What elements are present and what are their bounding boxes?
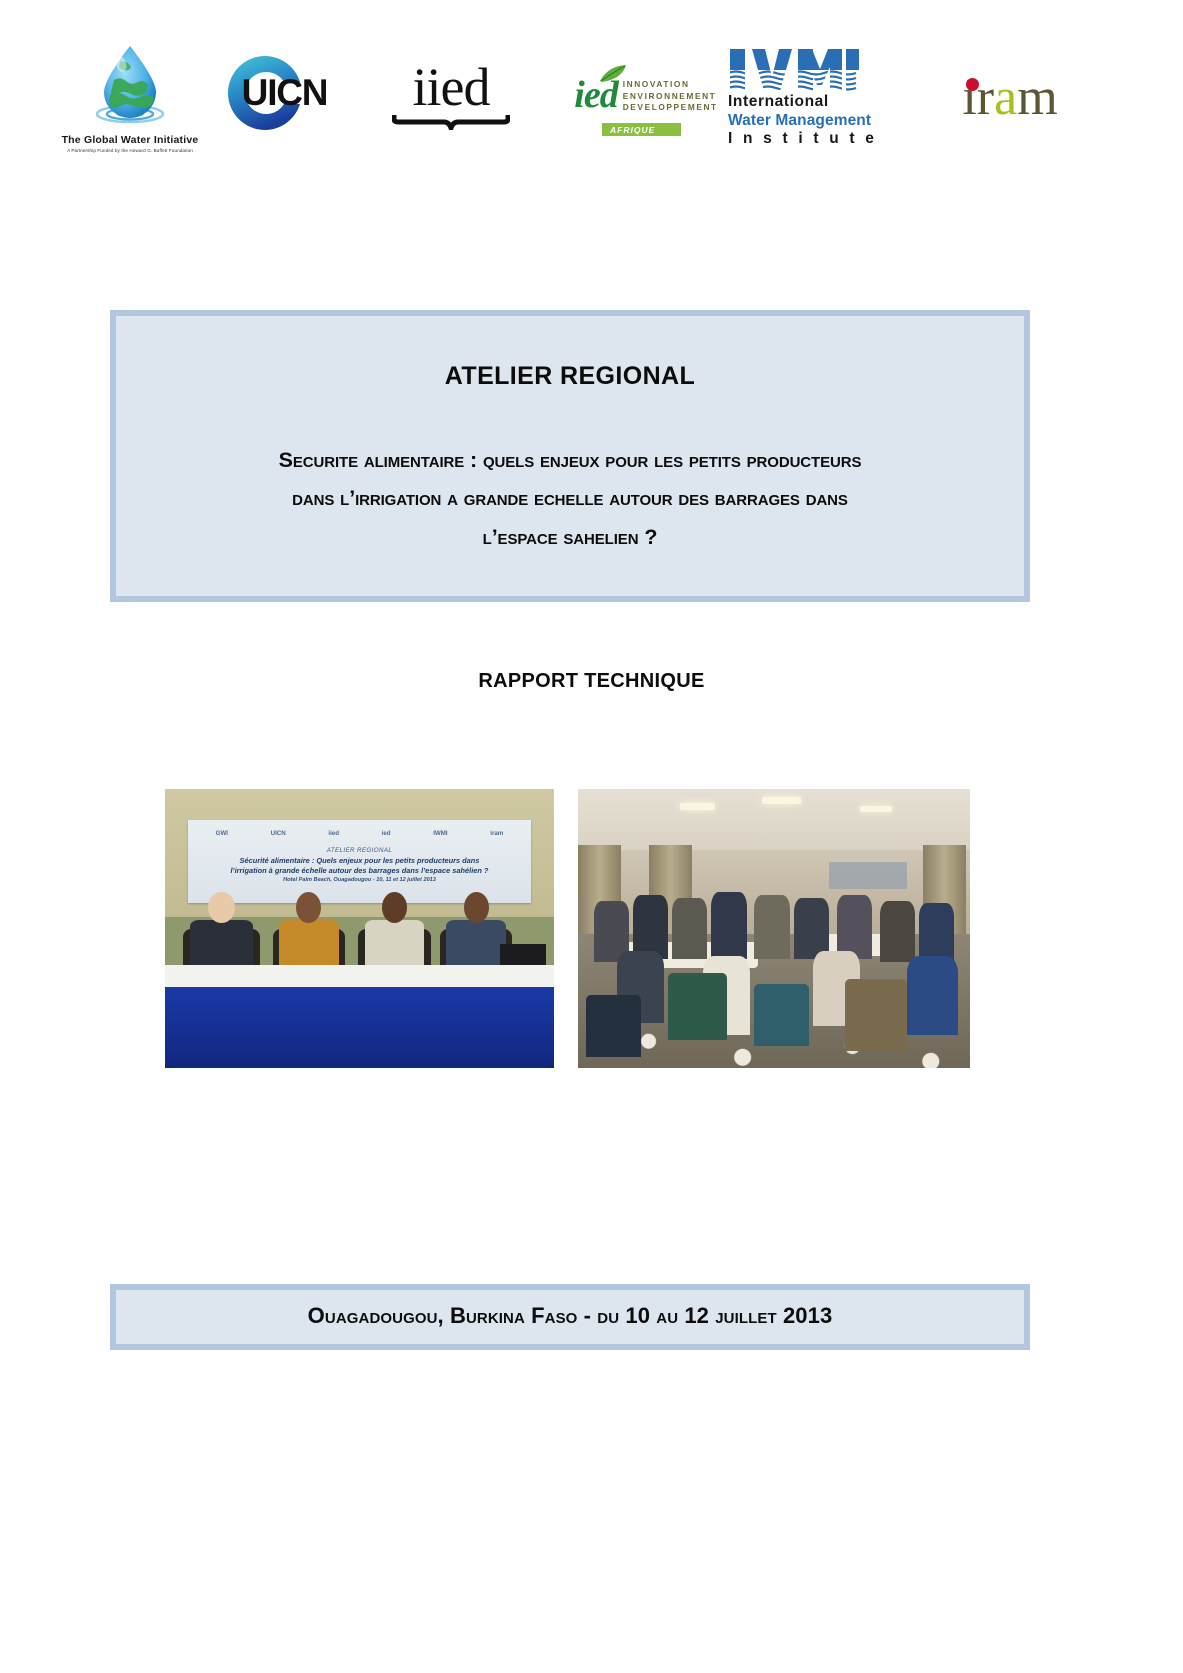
- banner-line-2: l’irrigation à grande échelle autour des…: [188, 866, 530, 875]
- iwmi-line-water-management: Water Management: [728, 112, 871, 131]
- banner-logo-strip: GWI UICN iied ied IWMI iram: [188, 822, 530, 847]
- subtitle-line-1: Securite alimentaire : quels enjeux pour…: [279, 448, 862, 472]
- banner-logo-uicn: UICN: [271, 830, 286, 837]
- banner-logo-ied: ied: [382, 830, 391, 837]
- panelist-1: [188, 892, 254, 965]
- photo-panel-table: [165, 965, 554, 1068]
- gwi-logo-tagline: A Partnership Funded by the Howard G. Bu…: [67, 148, 193, 153]
- panelist-2: [278, 892, 340, 965]
- attendee-8: [880, 901, 915, 962]
- banner-logo-gwi: GWI: [216, 830, 228, 837]
- attendee-2: [633, 895, 668, 959]
- banner-logo-iied: iied: [328, 830, 339, 837]
- workshop-title-box: ATELIER REGIONAL Securite alimentaire : …: [110, 310, 1030, 602]
- subtitle-line-2: dans l’irrigation a grande echelle autou…: [292, 486, 848, 510]
- ied-tagline-2: ENVIRONNEMENT: [623, 91, 718, 103]
- photo-panel-tablecloth: [165, 965, 554, 988]
- subtitle-line-3: l’espace sahelien ?: [483, 525, 658, 549]
- bag-on-floor: [586, 995, 641, 1056]
- photo-panel-banner: GWI UICN iied ied IWMI iram ATELIER REGI…: [188, 820, 530, 904]
- chair-teal-1: [754, 984, 809, 1045]
- projection-screen: [829, 862, 907, 890]
- iied-brace-icon: [392, 113, 510, 130]
- iwmi-line-international: International: [728, 93, 829, 112]
- ied-tagline-3: DEVELOPPEMENT: [623, 102, 718, 114]
- gwi-logo-name: The Global Water Initiative: [62, 134, 199, 146]
- iied-logo: iied: [386, 56, 516, 136]
- event-location-date: Ouagadougou, Burkina Faso - du 10 au 12 …: [116, 1303, 1024, 1329]
- iwmi-wordmark-icon: [728, 47, 860, 93]
- panelist-4: [445, 892, 507, 965]
- ied-afrique-badge: AFRIQUE: [602, 123, 681, 136]
- uicn-logo-text: UICN: [242, 72, 328, 114]
- laptop-icon: [500, 944, 547, 966]
- banner-line-3: Hotel Palm Beach, Ouagadougou - 10, 11 e…: [188, 877, 530, 883]
- photo-row: GWI UICN iied ied IWMI iram ATELIER REGI…: [0, 789, 1183, 1069]
- gwi-logo: The Global Water Initiative A Partnershi…: [40, 34, 220, 159]
- attendee-4: [711, 892, 746, 959]
- page-title: ATELIER REGIONAL: [150, 362, 990, 391]
- iwmi-line-institute: I n s t i t u t e: [728, 130, 877, 149]
- iram-logo: iram: [930, 58, 1090, 138]
- event-location-box: Ouagadougou, Burkina Faso - du 10 au 12 …: [110, 1284, 1030, 1350]
- leaf-icon: [598, 64, 628, 84]
- panelist-3: [363, 892, 425, 965]
- ied-logo-tagline: INNOVATION ENVIRONNEMENT DEVELOPPEMENT: [623, 79, 718, 114]
- iwmi-logo: International Water Management I n s t i…: [728, 50, 878, 146]
- uicn-logo: UICN: [222, 50, 367, 136]
- banner-logo-iwmi: IWMI: [433, 830, 447, 837]
- banner-line-1: Sécurité alimentaire : Quels enjeux pour…: [188, 856, 530, 865]
- iied-logo-text: iied: [413, 62, 490, 113]
- chair-green-1: [668, 973, 727, 1040]
- iram-logo-text: iram: [962, 72, 1057, 124]
- chair-wood-1: [845, 979, 908, 1052]
- ied-tagline-1: INNOVATION: [623, 79, 718, 91]
- report-type-label: RAPPORT TECHNIQUE: [0, 670, 1183, 693]
- ceiling-light-3: [860, 806, 891, 812]
- water-drop-globe-icon: [84, 40, 176, 132]
- attendee-3: [672, 898, 707, 959]
- attendee-5: [754, 895, 789, 959]
- photo-audience: [578, 789, 970, 1068]
- attendee-7: [837, 895, 872, 959]
- ceiling-light-1: [680, 803, 715, 810]
- attendee-6: [794, 898, 829, 959]
- attendee-13: [907, 956, 958, 1034]
- banner-title: ATELIER REGIONAL: [188, 847, 530, 854]
- banner-logo-iram: iram: [490, 830, 503, 837]
- ceiling-light-2: [762, 797, 801, 804]
- logo-bar: The Global Water Initiative A Partnershi…: [0, 28, 1183, 158]
- photo-panel: GWI UICN iied ied IWMI iram ATELIER REGI…: [165, 789, 554, 1068]
- ied-afrique-logo: ied INNOVATION ENVIRONNEMENT DEVELOPPEME…: [556, 52, 736, 138]
- workshop-subtitle: Securite alimentaire : quels enjeux pour…: [150, 441, 990, 556]
